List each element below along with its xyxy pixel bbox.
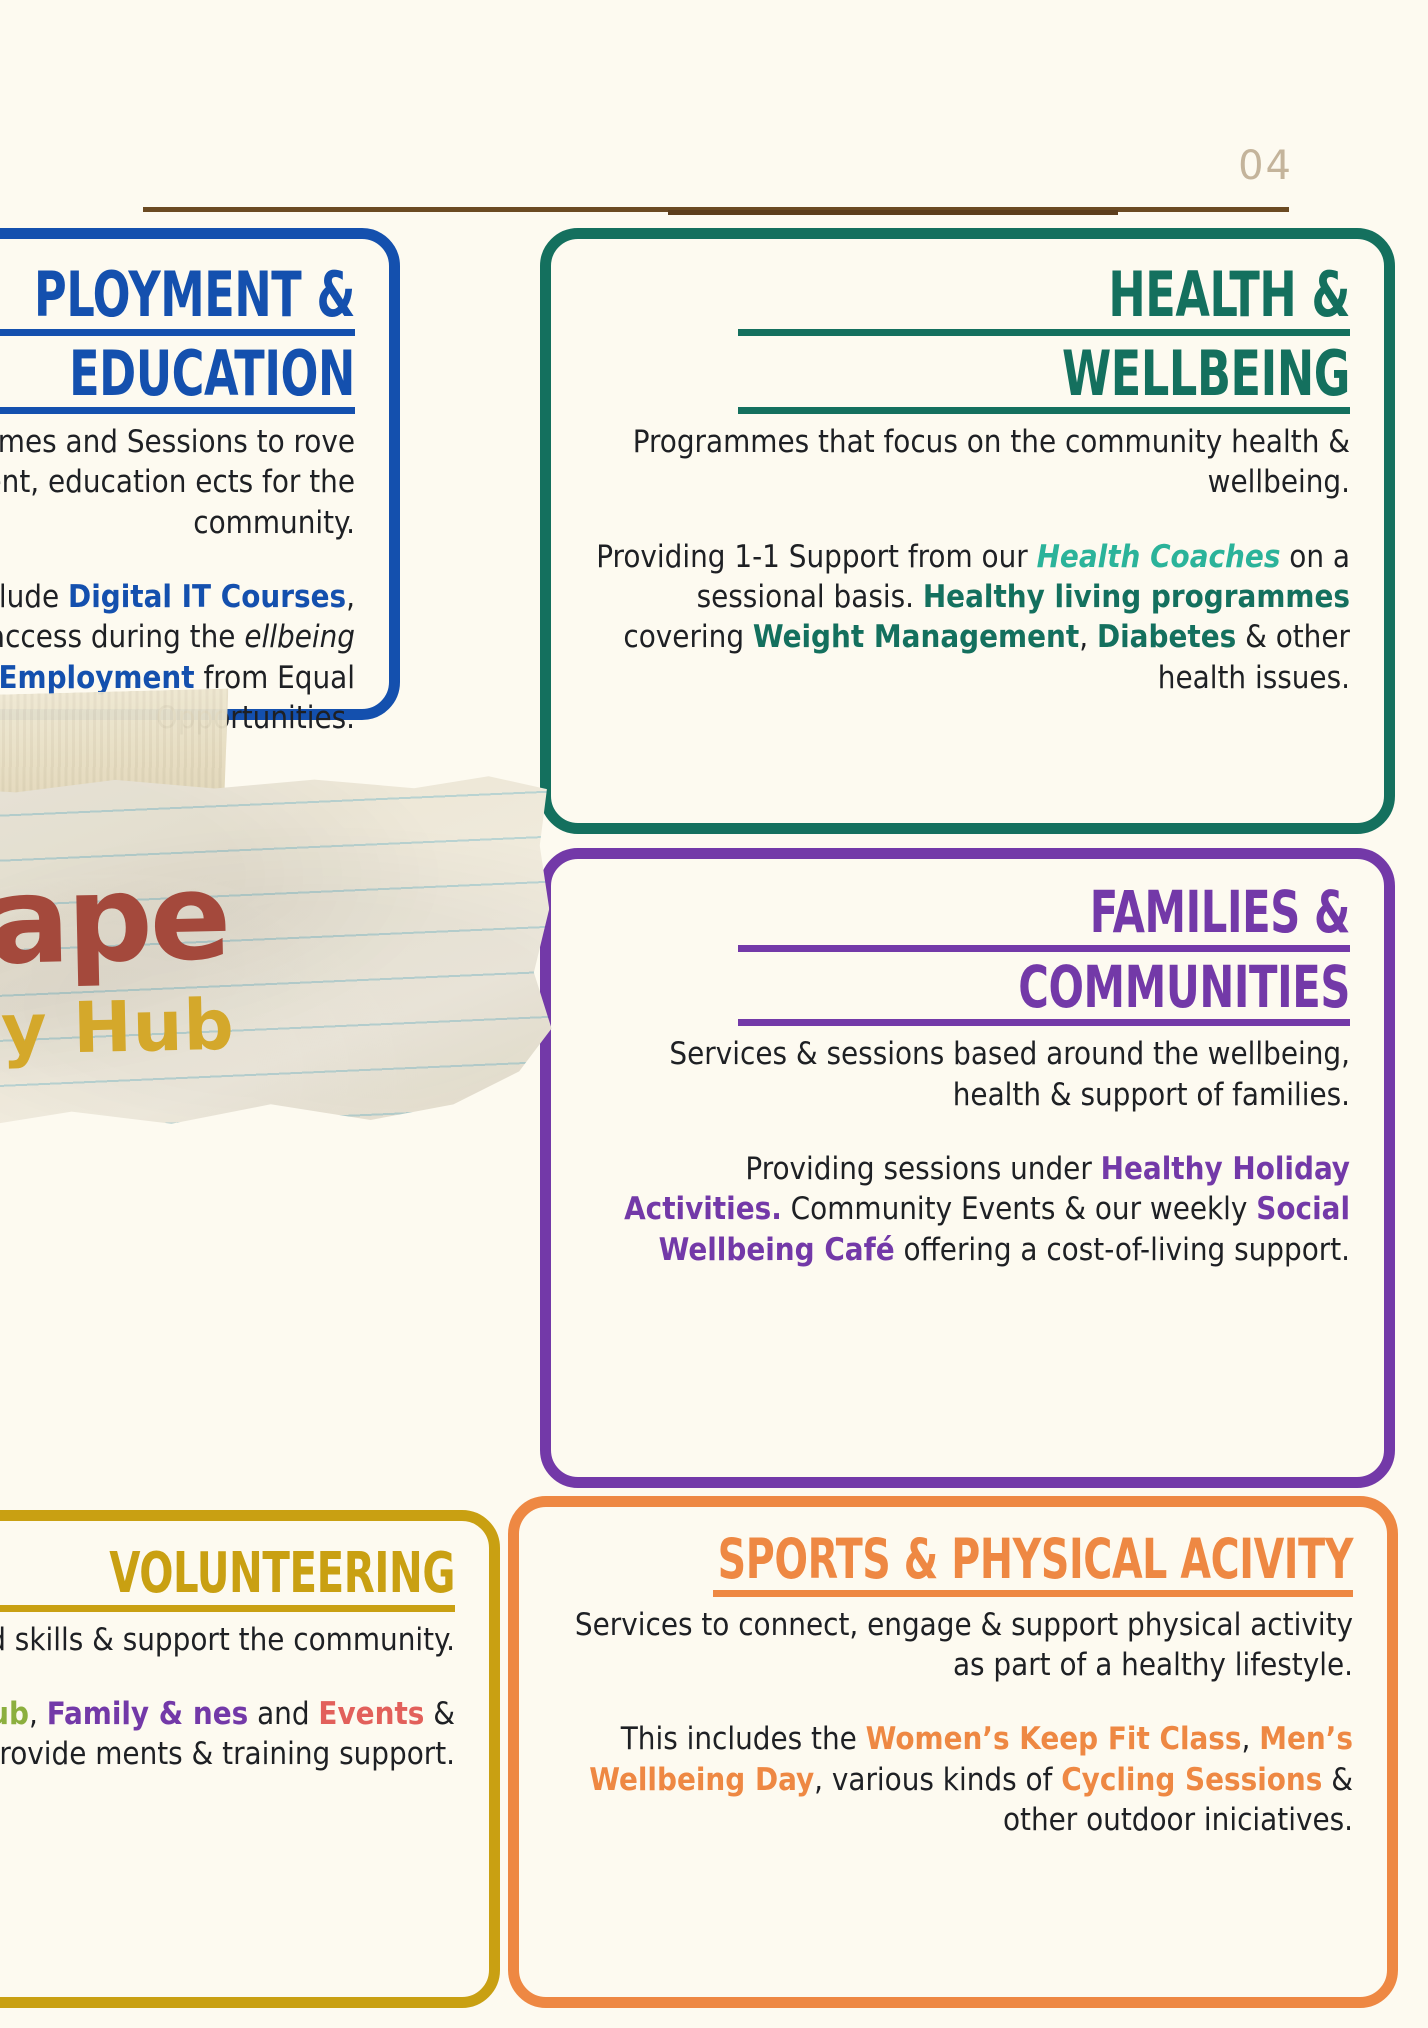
page-number: 04: [1238, 143, 1293, 189]
paragraph: Providing 1-1 Support from our Health Co…: [585, 537, 1350, 698]
paragraph: r the Food Hub, Family & nes and Events …: [0, 1694, 455, 1775]
title-line: SPORTS & PHYSICAL ACIVITY: [713, 1533, 1353, 1597]
card-body-sports-physical-activity: Services to connect, engage & support ph…: [553, 1605, 1353, 1840]
title-line: VOLUNTEERING: [0, 1547, 455, 1612]
card-title-health-wellbeing: HEALTH & WELLBEING: [738, 265, 1350, 422]
paragraph: Services to connect, engage & support ph…: [553, 1605, 1353, 1686]
card-title-employment-education: PLOYMENT & EDUCATION: [0, 265, 355, 422]
logo-collage: pShape munity Hub: [0, 690, 560, 1140]
paragraph: Programmes that focus on the community h…: [585, 422, 1350, 503]
paragraph: Providing sessions under Healthy Holiday…: [585, 1149, 1350, 1270]
title-line: HEALTH &: [738, 265, 1350, 336]
card-title-families-communities: FAMILIES & COMMUNITIES: [738, 885, 1350, 1034]
card-body-health-wellbeing: Programmes that focus on the community h…: [585, 422, 1350, 698]
card-volunteering[interactable]: VOLUNTEERING build skills & support the …: [0, 1510, 500, 2008]
card-families-communities[interactable]: FAMILIES & COMMUNITIES Services & sessio…: [540, 848, 1395, 1488]
card-title-sports-physical-activity: SPORTS & PHYSICAL ACIVITY: [713, 1533, 1353, 1605]
title-line: EDUCATION: [0, 344, 355, 415]
title-line: WELLBEING: [738, 344, 1350, 415]
paragraph: rogrammes and Sessions to rove employmen…: [0, 422, 355, 543]
header-rule-accent: [668, 210, 1118, 215]
paragraph: Services & sessions based around the wel…: [585, 1034, 1350, 1115]
title-line: PLOYMENT &: [0, 265, 355, 336]
card-title-volunteering: VOLUNTEERING: [0, 1547, 455, 1620]
card-sports-physical-activity[interactable]: SPORTS & PHYSICAL ACIVITY Services to co…: [508, 1496, 1398, 2008]
card-body-families-communities: Services & sessions based around the wel…: [585, 1034, 1350, 1269]
logo-wordmark: pShape: [0, 841, 541, 997]
card-body-volunteering: build skills & support the community. r …: [0, 1620, 455, 1775]
title-line: COMMUNITIES: [738, 960, 1350, 1027]
paragraph: This includes the Women’s Keep Fit Class…: [553, 1719, 1353, 1840]
title-line: FAMILIES &: [738, 885, 1350, 952]
paragraph: build skills & support the community.: [0, 1620, 455, 1660]
card-employment-education[interactable]: PLOYMENT & EDUCATION rogrammes and Sessi…: [0, 228, 400, 720]
card-health-wellbeing[interactable]: HEALTH & WELLBEING Programmes that focus…: [540, 228, 1395, 834]
